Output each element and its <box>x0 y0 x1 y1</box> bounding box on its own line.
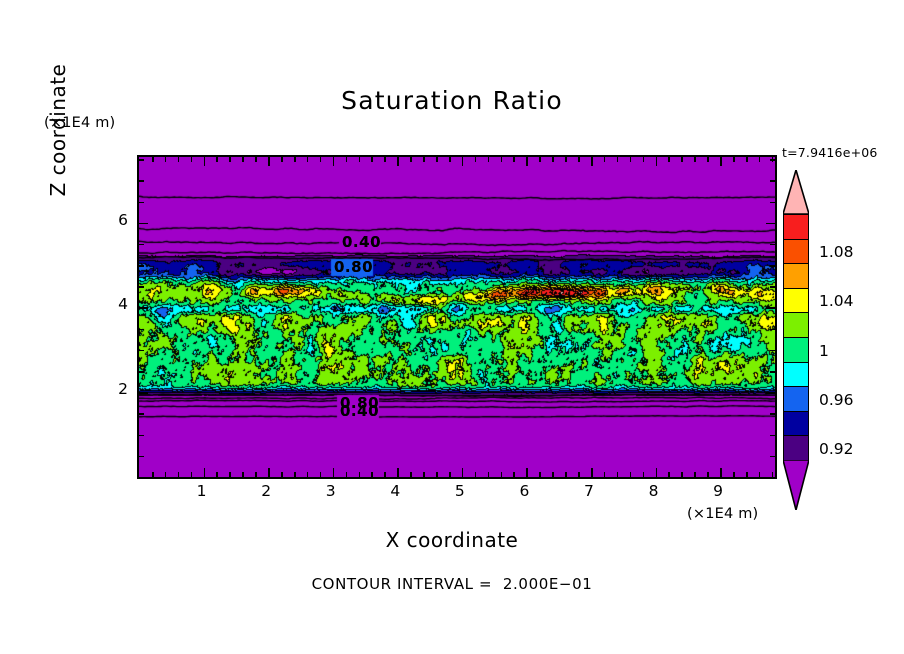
tick-mark <box>630 157 632 162</box>
y-tick-label: 2 <box>104 380 128 398</box>
x-tick-label: 4 <box>375 482 415 500</box>
timestamp-label: t=7.9416e+06 <box>782 145 878 160</box>
x-tick-label: 6 <box>504 482 544 500</box>
tick-mark <box>307 157 309 162</box>
tick-mark <box>759 472 761 477</box>
tick-mark <box>229 472 231 477</box>
contour-value-label: 0.80 <box>334 258 373 276</box>
tick-mark <box>204 468 206 477</box>
tick-mark <box>488 472 490 477</box>
tick-mark <box>139 329 144 331</box>
tick-mark <box>139 244 144 246</box>
tick-mark <box>449 472 451 477</box>
tick-mark <box>139 307 148 309</box>
colorbar-underflow-cap <box>783 460 809 510</box>
tick-mark <box>501 472 503 477</box>
tick-mark <box>733 472 735 477</box>
tick-mark <box>668 157 670 162</box>
tick-mark <box>694 157 696 162</box>
x-tick-label: 1 <box>182 482 222 500</box>
tick-mark <box>656 468 658 477</box>
tick-mark <box>578 157 580 162</box>
tick-mark <box>384 472 386 477</box>
tick-mark <box>216 472 218 477</box>
tick-mark <box>139 456 144 458</box>
tick-mark <box>281 472 283 477</box>
plot-area: 0.400.800.800.40 <box>137 155 777 479</box>
tick-mark <box>526 468 528 477</box>
tick-mark <box>139 392 148 394</box>
colorbar-tick-label: 1.04 <box>819 292 854 310</box>
x-axis-unit-label: (×1E4 m) <box>687 506 758 522</box>
tick-mark <box>229 157 231 162</box>
tick-mark <box>720 157 722 166</box>
tick-mark <box>591 468 593 477</box>
x-axis-title: X coordinate <box>0 528 904 552</box>
tick-mark <box>139 371 144 373</box>
tick-mark <box>617 472 619 477</box>
tick-mark <box>294 472 296 477</box>
tick-mark <box>617 157 619 162</box>
tick-mark <box>770 456 775 458</box>
tick-mark <box>139 223 148 225</box>
colorbar-tick-label: 1.08 <box>819 243 854 261</box>
x-tick-label: 5 <box>440 482 480 500</box>
colorbar-segment <box>783 362 809 388</box>
tick-mark <box>552 472 554 477</box>
tick-mark <box>770 265 775 267</box>
tick-mark <box>770 180 775 182</box>
tick-mark <box>139 286 144 288</box>
tick-mark <box>397 468 399 477</box>
colorbar-overflow-cap <box>783 170 809 214</box>
tick-mark <box>410 157 412 162</box>
tick-mark <box>643 472 645 477</box>
tick-mark <box>436 472 438 477</box>
tick-mark <box>320 157 322 162</box>
tick-mark <box>423 157 425 162</box>
tick-mark <box>307 472 309 477</box>
tick-mark <box>242 472 244 477</box>
tick-mark <box>436 157 438 162</box>
contour-field <box>139 157 775 477</box>
tick-mark <box>371 472 373 477</box>
tick-mark <box>384 157 386 162</box>
x-tick-label: 9 <box>698 482 738 500</box>
tick-mark <box>604 472 606 477</box>
tick-mark <box>346 472 348 477</box>
contour-value-label: 0.40 <box>342 233 381 251</box>
tick-mark <box>178 472 180 477</box>
tick-mark <box>255 472 257 477</box>
tick-mark <box>139 413 144 415</box>
tick-mark <box>539 472 541 477</box>
x-tick-label: 8 <box>634 482 674 500</box>
figure-canvas: Saturation Ratio (×1E4 m) t=7.9416e+06 0… <box>0 0 904 654</box>
tick-mark <box>770 371 775 373</box>
colorbar-segment <box>783 263 809 289</box>
tick-mark <box>565 472 567 477</box>
colorbar-segment <box>783 411 809 437</box>
tick-mark <box>681 472 683 477</box>
tick-mark <box>333 157 335 166</box>
colorbar-segment <box>783 214 809 240</box>
tick-mark <box>475 472 477 477</box>
tick-mark <box>139 180 144 182</box>
y-tick-label: 6 <box>104 211 128 229</box>
y-axis-title: Z coordinate <box>46 10 70 250</box>
tick-mark <box>591 157 593 166</box>
tick-mark <box>488 157 490 162</box>
tick-mark <box>191 157 193 162</box>
tick-mark <box>359 472 361 477</box>
tick-mark <box>449 157 451 162</box>
tick-mark <box>216 157 218 162</box>
tick-mark <box>139 435 144 437</box>
tick-mark <box>604 157 606 162</box>
tick-mark <box>139 202 144 204</box>
tick-mark <box>770 286 775 288</box>
tick-mark <box>152 157 154 162</box>
colorbar-tick-label: 1 <box>819 342 829 360</box>
colorbar-segment <box>783 435 809 461</box>
colorbar-segment <box>783 312 809 338</box>
tick-mark <box>733 157 735 162</box>
x-tick-label: 3 <box>311 482 351 500</box>
tick-mark <box>139 350 144 352</box>
colorbar: 1.081.0410.960.92 <box>783 214 809 460</box>
tick-mark <box>565 157 567 162</box>
tick-mark <box>242 157 244 162</box>
tick-mark <box>165 472 167 477</box>
tick-mark <box>552 157 554 162</box>
tick-mark <box>191 472 193 477</box>
tick-mark <box>475 157 477 162</box>
colorbar-segment <box>783 239 809 265</box>
tick-mark <box>397 157 399 166</box>
contour-interval-note: CONTOUR INTERVAL = 2.000E−01 <box>0 575 904 593</box>
colorbar-segment <box>783 288 809 314</box>
tick-mark <box>165 157 167 162</box>
tick-mark <box>770 435 775 437</box>
tick-mark <box>294 157 296 162</box>
tick-mark <box>320 472 322 477</box>
tick-mark <box>720 468 722 477</box>
tick-mark <box>139 159 144 161</box>
tick-mark <box>668 472 670 477</box>
tick-mark <box>746 157 748 162</box>
tick-mark <box>766 392 775 394</box>
tick-mark <box>643 157 645 162</box>
tick-mark <box>539 157 541 162</box>
tick-mark <box>462 157 464 166</box>
tick-mark <box>268 157 270 166</box>
tick-mark <box>281 157 283 162</box>
tick-mark <box>772 472 774 477</box>
tick-mark <box>770 159 775 161</box>
colorbar-segment <box>783 386 809 412</box>
contour-value-label: 0.40 <box>340 402 379 420</box>
tick-mark <box>139 265 144 267</box>
tick-mark <box>359 157 361 162</box>
tick-mark <box>707 472 709 477</box>
tick-mark <box>255 157 257 162</box>
tick-mark <box>694 472 696 477</box>
tick-mark <box>513 472 515 477</box>
tick-mark <box>770 329 775 331</box>
tick-mark <box>746 472 748 477</box>
tick-mark <box>526 157 528 166</box>
tick-mark <box>681 157 683 162</box>
colorbar-segment <box>783 337 809 363</box>
colorbar-tick-label: 0.92 <box>819 440 854 458</box>
tick-mark <box>410 472 412 477</box>
tick-mark <box>152 472 154 477</box>
tick-mark <box>770 413 775 415</box>
y-tick-label: 4 <box>104 295 128 313</box>
chart-title: Saturation Ratio <box>0 86 904 115</box>
x-tick-label: 2 <box>246 482 286 500</box>
tick-mark <box>656 157 658 166</box>
tick-mark <box>204 157 206 166</box>
tick-mark <box>766 223 775 225</box>
tick-mark <box>759 157 761 162</box>
x-tick-label: 7 <box>569 482 609 500</box>
tick-mark <box>707 157 709 162</box>
tick-mark <box>346 157 348 162</box>
tick-mark <box>766 307 775 309</box>
tick-mark <box>630 472 632 477</box>
tick-mark <box>462 468 464 477</box>
tick-mark <box>423 472 425 477</box>
colorbar-tick-label: 0.96 <box>819 391 854 409</box>
tick-mark <box>501 157 503 162</box>
tick-mark <box>770 350 775 352</box>
tick-mark <box>371 157 373 162</box>
tick-mark <box>770 244 775 246</box>
tick-mark <box>178 157 180 162</box>
tick-mark <box>513 157 515 162</box>
tick-mark <box>578 472 580 477</box>
tick-mark <box>770 202 775 204</box>
tick-mark <box>268 468 270 477</box>
tick-mark <box>333 468 335 477</box>
